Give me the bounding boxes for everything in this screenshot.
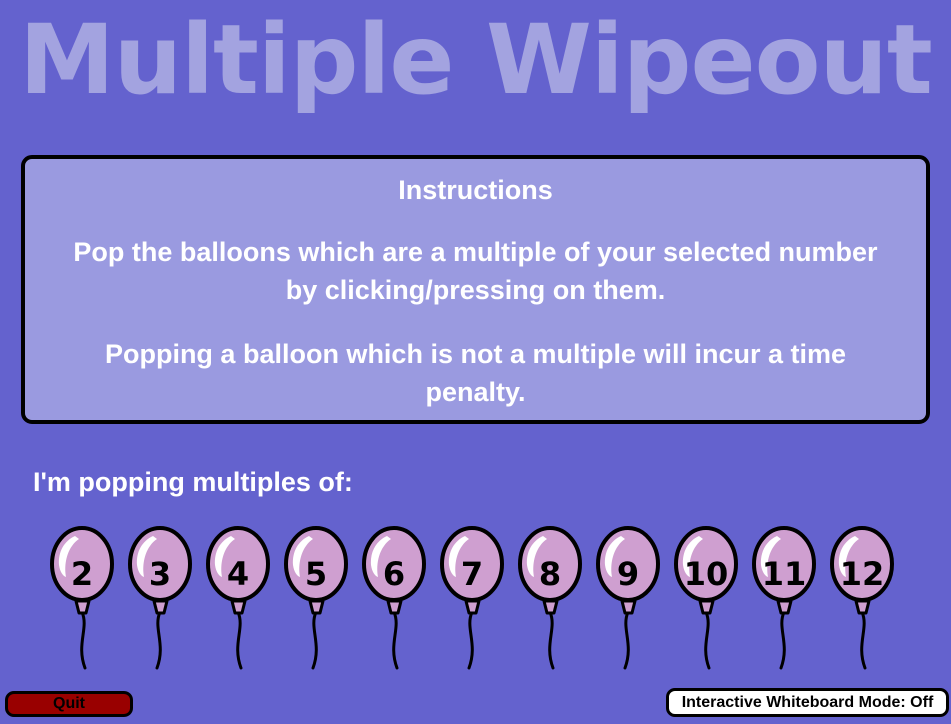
balloon-icon [435, 520, 513, 680]
balloon-option-4[interactable]: 4 [201, 520, 279, 680]
balloon-option-7[interactable]: 7 [435, 520, 513, 680]
balloon-icon [201, 520, 279, 680]
balloon-option-11[interactable]: 11 [747, 520, 825, 680]
balloon-option-9[interactable]: 9 [591, 520, 669, 680]
balloon-option-6[interactable]: 6 [357, 520, 435, 680]
quit-button[interactable]: Quit [5, 691, 133, 717]
balloon-option-5[interactable]: 5 [279, 520, 357, 680]
balloon-selector-row: 23456789101112 [45, 520, 925, 680]
balloon-icon [357, 520, 435, 680]
balloon-icon [279, 520, 357, 680]
balloon-icon [825, 520, 903, 680]
balloon-icon [123, 520, 201, 680]
multiples-prompt-label: I'm popping multiples of: [33, 465, 353, 499]
balloon-option-3[interactable]: 3 [123, 520, 201, 680]
balloon-icon [45, 520, 123, 680]
instructions-panel: Instructions Pop the balloons which are … [21, 155, 930, 424]
instructions-paragraph-2: Popping a balloon which is not a multipl… [43, 335, 908, 411]
balloon-option-10[interactable]: 10 [669, 520, 747, 680]
balloon-option-8[interactable]: 8 [513, 520, 591, 680]
balloon-option-12[interactable]: 12 [825, 520, 903, 680]
balloon-icon [669, 520, 747, 680]
balloon-option-2[interactable]: 2 [45, 520, 123, 680]
page-title: Multiple Wipeout [0, 4, 951, 116]
balloon-icon [513, 520, 591, 680]
instructions-heading: Instructions [43, 173, 908, 207]
balloon-icon [747, 520, 825, 680]
whiteboard-mode-button[interactable]: Interactive Whiteboard Mode: Off [666, 688, 949, 717]
balloon-icon [591, 520, 669, 680]
instructions-paragraph-1: Pop the balloons which are a multiple of… [43, 233, 908, 309]
